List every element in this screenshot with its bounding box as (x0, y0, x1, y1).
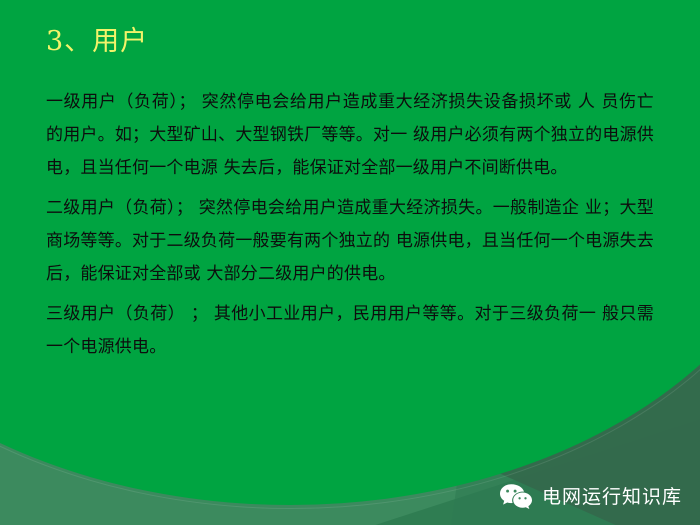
paragraph-level-2-user: 二级用户（负荷）； 突然停电会给用户造成重大经济损失。一般制造企 业；大型商场等… (46, 192, 654, 291)
paragraph-level-1-user: 一级用户（负荷）； 突然停电会给用户造成重大经济损失设备损坏或 人 员伤亡的用户… (46, 86, 654, 185)
slide-content: 3、用户 一级用户（负荷）； 突然停电会给用户造成重大经济损失设备损坏或 人 员… (0, 0, 700, 525)
slide-canvas: 3、用户 一级用户（负荷）； 突然停电会给用户造成重大经济损失设备损坏或 人 员… (0, 0, 700, 525)
paragraph-level-3-user: 三级用户（负荷） ； 其他小工业用户，民用用户等等。对于三级负荷一 般只需一个电… (46, 298, 654, 364)
watermark-badge: 电网运行知识库 (499, 482, 682, 509)
wechat-icon (499, 483, 533, 509)
slide-body: 一级用户（负荷）； 突然停电会给用户造成重大经济损失设备损坏或 人 员伤亡的用户… (46, 86, 654, 364)
watermark-label: 电网运行知识库 (542, 482, 682, 509)
slide-title: 3、用户 (46, 26, 148, 57)
